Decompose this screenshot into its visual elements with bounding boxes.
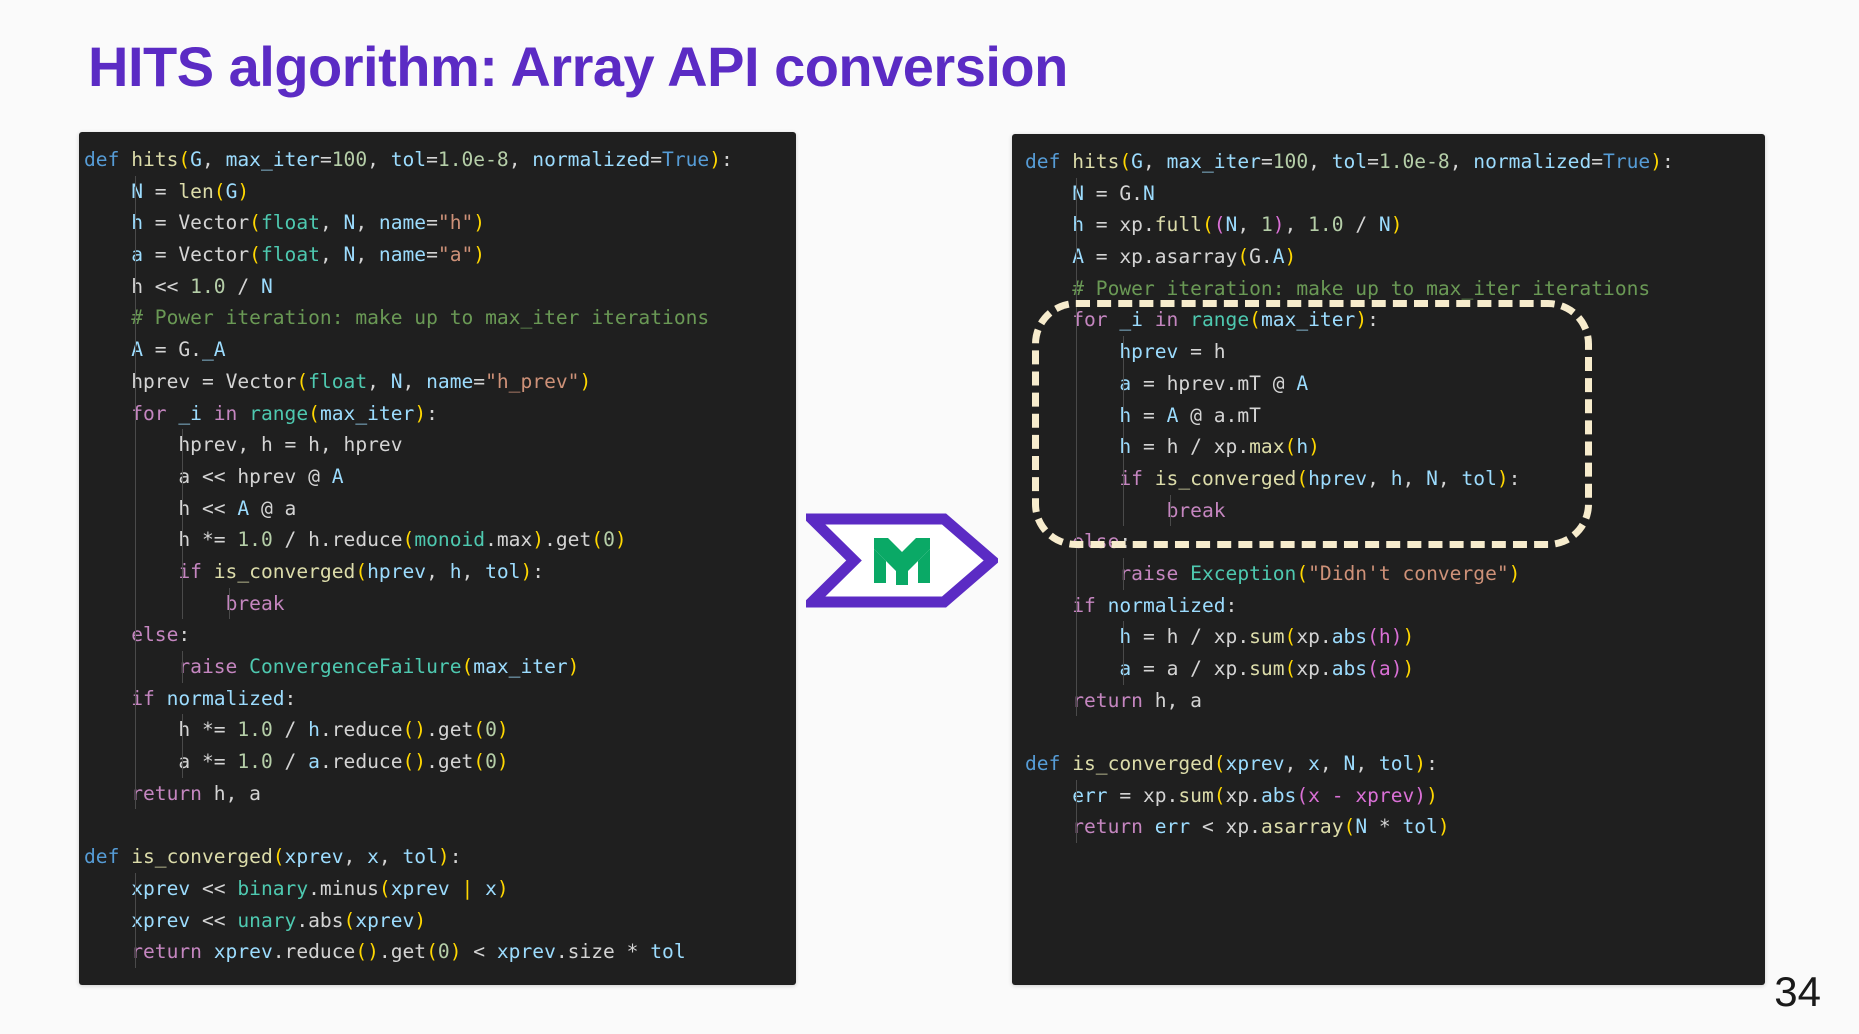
conversion-arrow	[806, 513, 998, 608]
slide-canvas: HITS algorithm: Array API conversion def…	[0, 0, 1859, 1034]
page-title: HITS algorithm: Array API conversion	[88, 34, 1068, 99]
page-number: 34	[1774, 968, 1821, 1016]
original-code-text: def hits(G, max_iter=100, tol=1.0e-8, no…	[79, 132, 796, 968]
converted-code-text: def hits(G, max_iter=100, tol=1.0e-8, no…	[1012, 134, 1765, 843]
conversion-arrow-shape	[806, 513, 998, 608]
original-code-panel: def hits(G, max_iter=100, tol=1.0e-8, no…	[79, 132, 796, 985]
converted-code-panel: def hits(G, max_iter=100, tol=1.0e-8, no…	[1012, 134, 1765, 985]
